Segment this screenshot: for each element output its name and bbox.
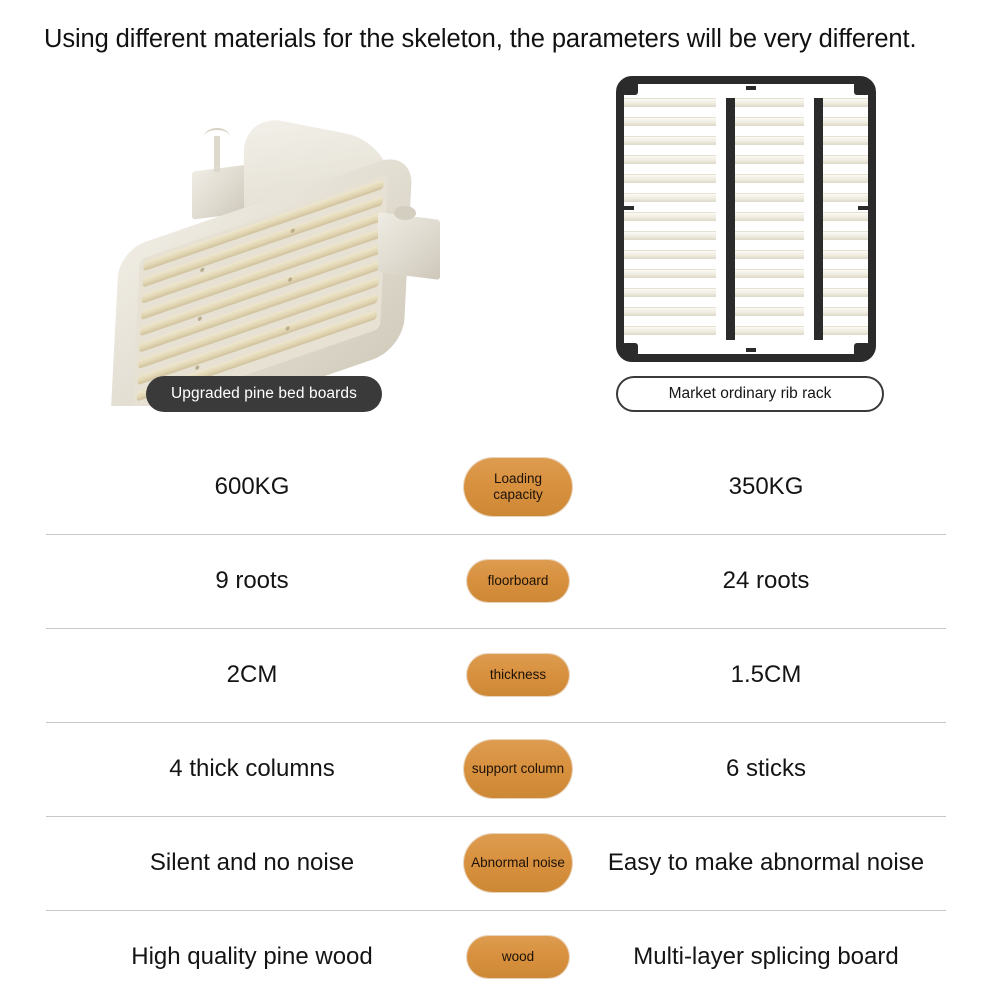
- rack-slat: [735, 212, 804, 221]
- rack-bracket-icon: [858, 206, 868, 210]
- rack-slat: [735, 136, 804, 145]
- rib-rack-photo: [596, 62, 896, 378]
- row-value-right: 350KG: [578, 473, 954, 501]
- rack-slat: [735, 231, 804, 240]
- rack-bracket-icon: [624, 206, 634, 210]
- nightstand-right-icon: [378, 212, 440, 280]
- rack-center-rail: [814, 98, 823, 340]
- table-row: High quality pine wood wood Multi-layer …: [0, 910, 1000, 1004]
- row-value-left: 600KG: [46, 473, 458, 501]
- table-row: 600KG Loading capacity 350KG: [0, 440, 1000, 534]
- rack-corner-foot-icon: [622, 343, 638, 356]
- rack-slat: [624, 288, 716, 297]
- bed-illustration: [96, 106, 466, 406]
- row-value-left: High quality pine wood: [46, 943, 458, 971]
- rack-corner-foot-icon: [854, 82, 870, 95]
- rack-slat: [823, 117, 868, 126]
- attribute-chip: floorboard: [467, 560, 569, 602]
- table-row: 2CM thickness 1.5CM: [0, 628, 1000, 722]
- row-attribute-cell: wood: [458, 936, 578, 978]
- table-row: 4 thick columns support column 6 sticks: [0, 722, 1000, 816]
- rack-slat: [735, 193, 804, 202]
- rack-slat: [823, 288, 868, 297]
- caption-market-rib-rack: Market ordinary rib rack: [616, 376, 884, 412]
- slat-screw-icon: [198, 316, 202, 321]
- caption-pine-bed-boards: Upgraded pine bed boards: [146, 376, 382, 412]
- rack-slat: [624, 193, 716, 202]
- rack-slat: [735, 269, 804, 278]
- rack-corner-foot-icon: [622, 82, 638, 95]
- rack-slat: [735, 250, 804, 259]
- rack-frame-shape: [616, 76, 876, 362]
- comparison-table: 600KG Loading capacity 350KG 9 roots flo…: [0, 440, 1000, 1004]
- rack-slat: [735, 307, 804, 316]
- rib-rack-illustration: [596, 62, 896, 378]
- row-attribute-cell: floorboard: [458, 560, 578, 602]
- attribute-chip: thickness: [467, 654, 569, 696]
- row-value-left: 4 thick columns: [46, 755, 458, 783]
- row-value-left: 2CM: [46, 661, 458, 689]
- row-value-right: 6 sticks: [578, 755, 954, 783]
- rack-slat: [823, 326, 868, 335]
- rack-slat: [624, 155, 716, 164]
- rack-slat: [823, 136, 868, 145]
- vase-icon: [214, 136, 220, 172]
- rack-slat: [823, 269, 868, 278]
- row-value-left: 9 roots: [46, 567, 458, 595]
- rack-slat: [823, 174, 868, 183]
- table-row: Silent and no noise Abnormal noise Easy …: [0, 816, 1000, 910]
- row-value-right: 1.5CM: [578, 661, 954, 689]
- rack-slat: [624, 269, 716, 278]
- attribute-chip: Loading capacity: [464, 458, 572, 516]
- table-row: 9 roots floorboard 24 roots: [0, 534, 1000, 628]
- rack-slat: [624, 250, 716, 259]
- rack-slat: [624, 98, 716, 107]
- rack-slat: [624, 174, 716, 183]
- attribute-chip: Abnormal noise: [464, 834, 572, 892]
- row-attribute-cell: support column: [458, 740, 578, 798]
- pine-bed-photo: [96, 106, 466, 406]
- row-attribute-cell: Loading capacity: [458, 458, 578, 516]
- rack-slat: [624, 117, 716, 126]
- rack-slat: [823, 155, 868, 164]
- rack-slat: [624, 231, 716, 240]
- rack-slat: [735, 98, 804, 107]
- rack-slat: [823, 307, 868, 316]
- rack-bracket-icon: [746, 348, 756, 352]
- rack-slat: [735, 326, 804, 335]
- row-value-right: 24 roots: [578, 567, 954, 595]
- rack-corner-foot-icon: [854, 343, 870, 356]
- rack-slat: [823, 212, 868, 221]
- row-attribute-cell: thickness: [458, 654, 578, 696]
- rack-slat: [823, 231, 868, 240]
- page-title: Using different materials for the skelet…: [44, 24, 974, 54]
- rack-slat: [735, 117, 804, 126]
- rack-bracket-icon: [746, 86, 756, 90]
- attribute-chip: wood: [467, 936, 569, 978]
- rack-slat: [624, 212, 716, 221]
- rack-slat: [823, 98, 868, 107]
- slat-screw-icon: [195, 365, 199, 370]
- slat-screw-icon: [200, 267, 204, 272]
- product-image-left: [96, 106, 466, 406]
- rack-slat: [823, 193, 868, 202]
- rack-slat: [624, 307, 716, 316]
- product-image-right: [596, 62, 896, 378]
- rack-slat: [735, 288, 804, 297]
- row-value-left: Silent and no noise: [46, 849, 458, 877]
- rack-slat: [624, 326, 716, 335]
- row-value-right: Easy to make abnormal noise: [578, 849, 954, 877]
- rack-slat: [624, 136, 716, 145]
- rack-slat: [735, 155, 804, 164]
- attribute-chip: support column: [464, 740, 572, 798]
- row-value-right: Multi-layer splicing board: [578, 943, 954, 971]
- rack-slat: [823, 250, 868, 259]
- row-attribute-cell: Abnormal noise: [458, 834, 578, 892]
- rack-slat: [735, 174, 804, 183]
- decor-object-icon: [394, 206, 416, 220]
- rack-center-rail: [726, 98, 735, 340]
